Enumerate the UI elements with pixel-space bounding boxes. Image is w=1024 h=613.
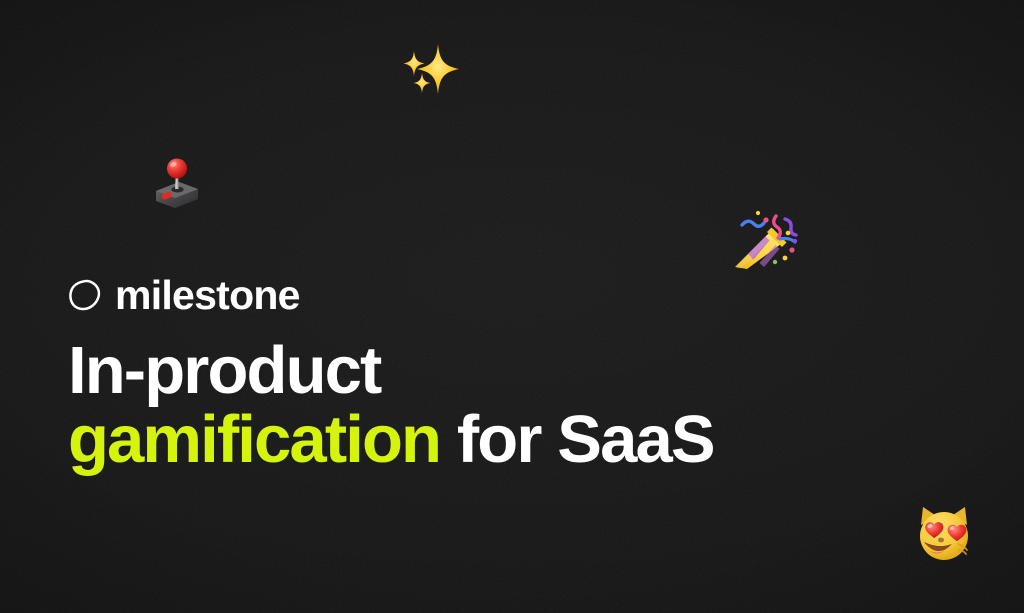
- joystick-emoji: [152, 157, 200, 209]
- headline-line-2: gamification for SaaS: [68, 405, 948, 474]
- brand-name: milestone: [115, 275, 300, 316]
- headline-line-1: In-product: [68, 336, 948, 405]
- hero-banner: milestone In-product gamification for Sa…: [0, 0, 1024, 613]
- hero-content: milestone In-product gamification for Sa…: [68, 272, 948, 519]
- page-title: In-product gamification for SaaS: [68, 336, 948, 474]
- headline-accent-word: gamification: [68, 402, 440, 477]
- sparkles-emoji: [400, 38, 462, 100]
- pebble-outline-icon: [68, 278, 102, 312]
- party-popper-emoji: [730, 203, 800, 273]
- headline-line-2-rest: for SaaS: [457, 402, 714, 477]
- brand-lockup: milestone: [68, 272, 948, 318]
